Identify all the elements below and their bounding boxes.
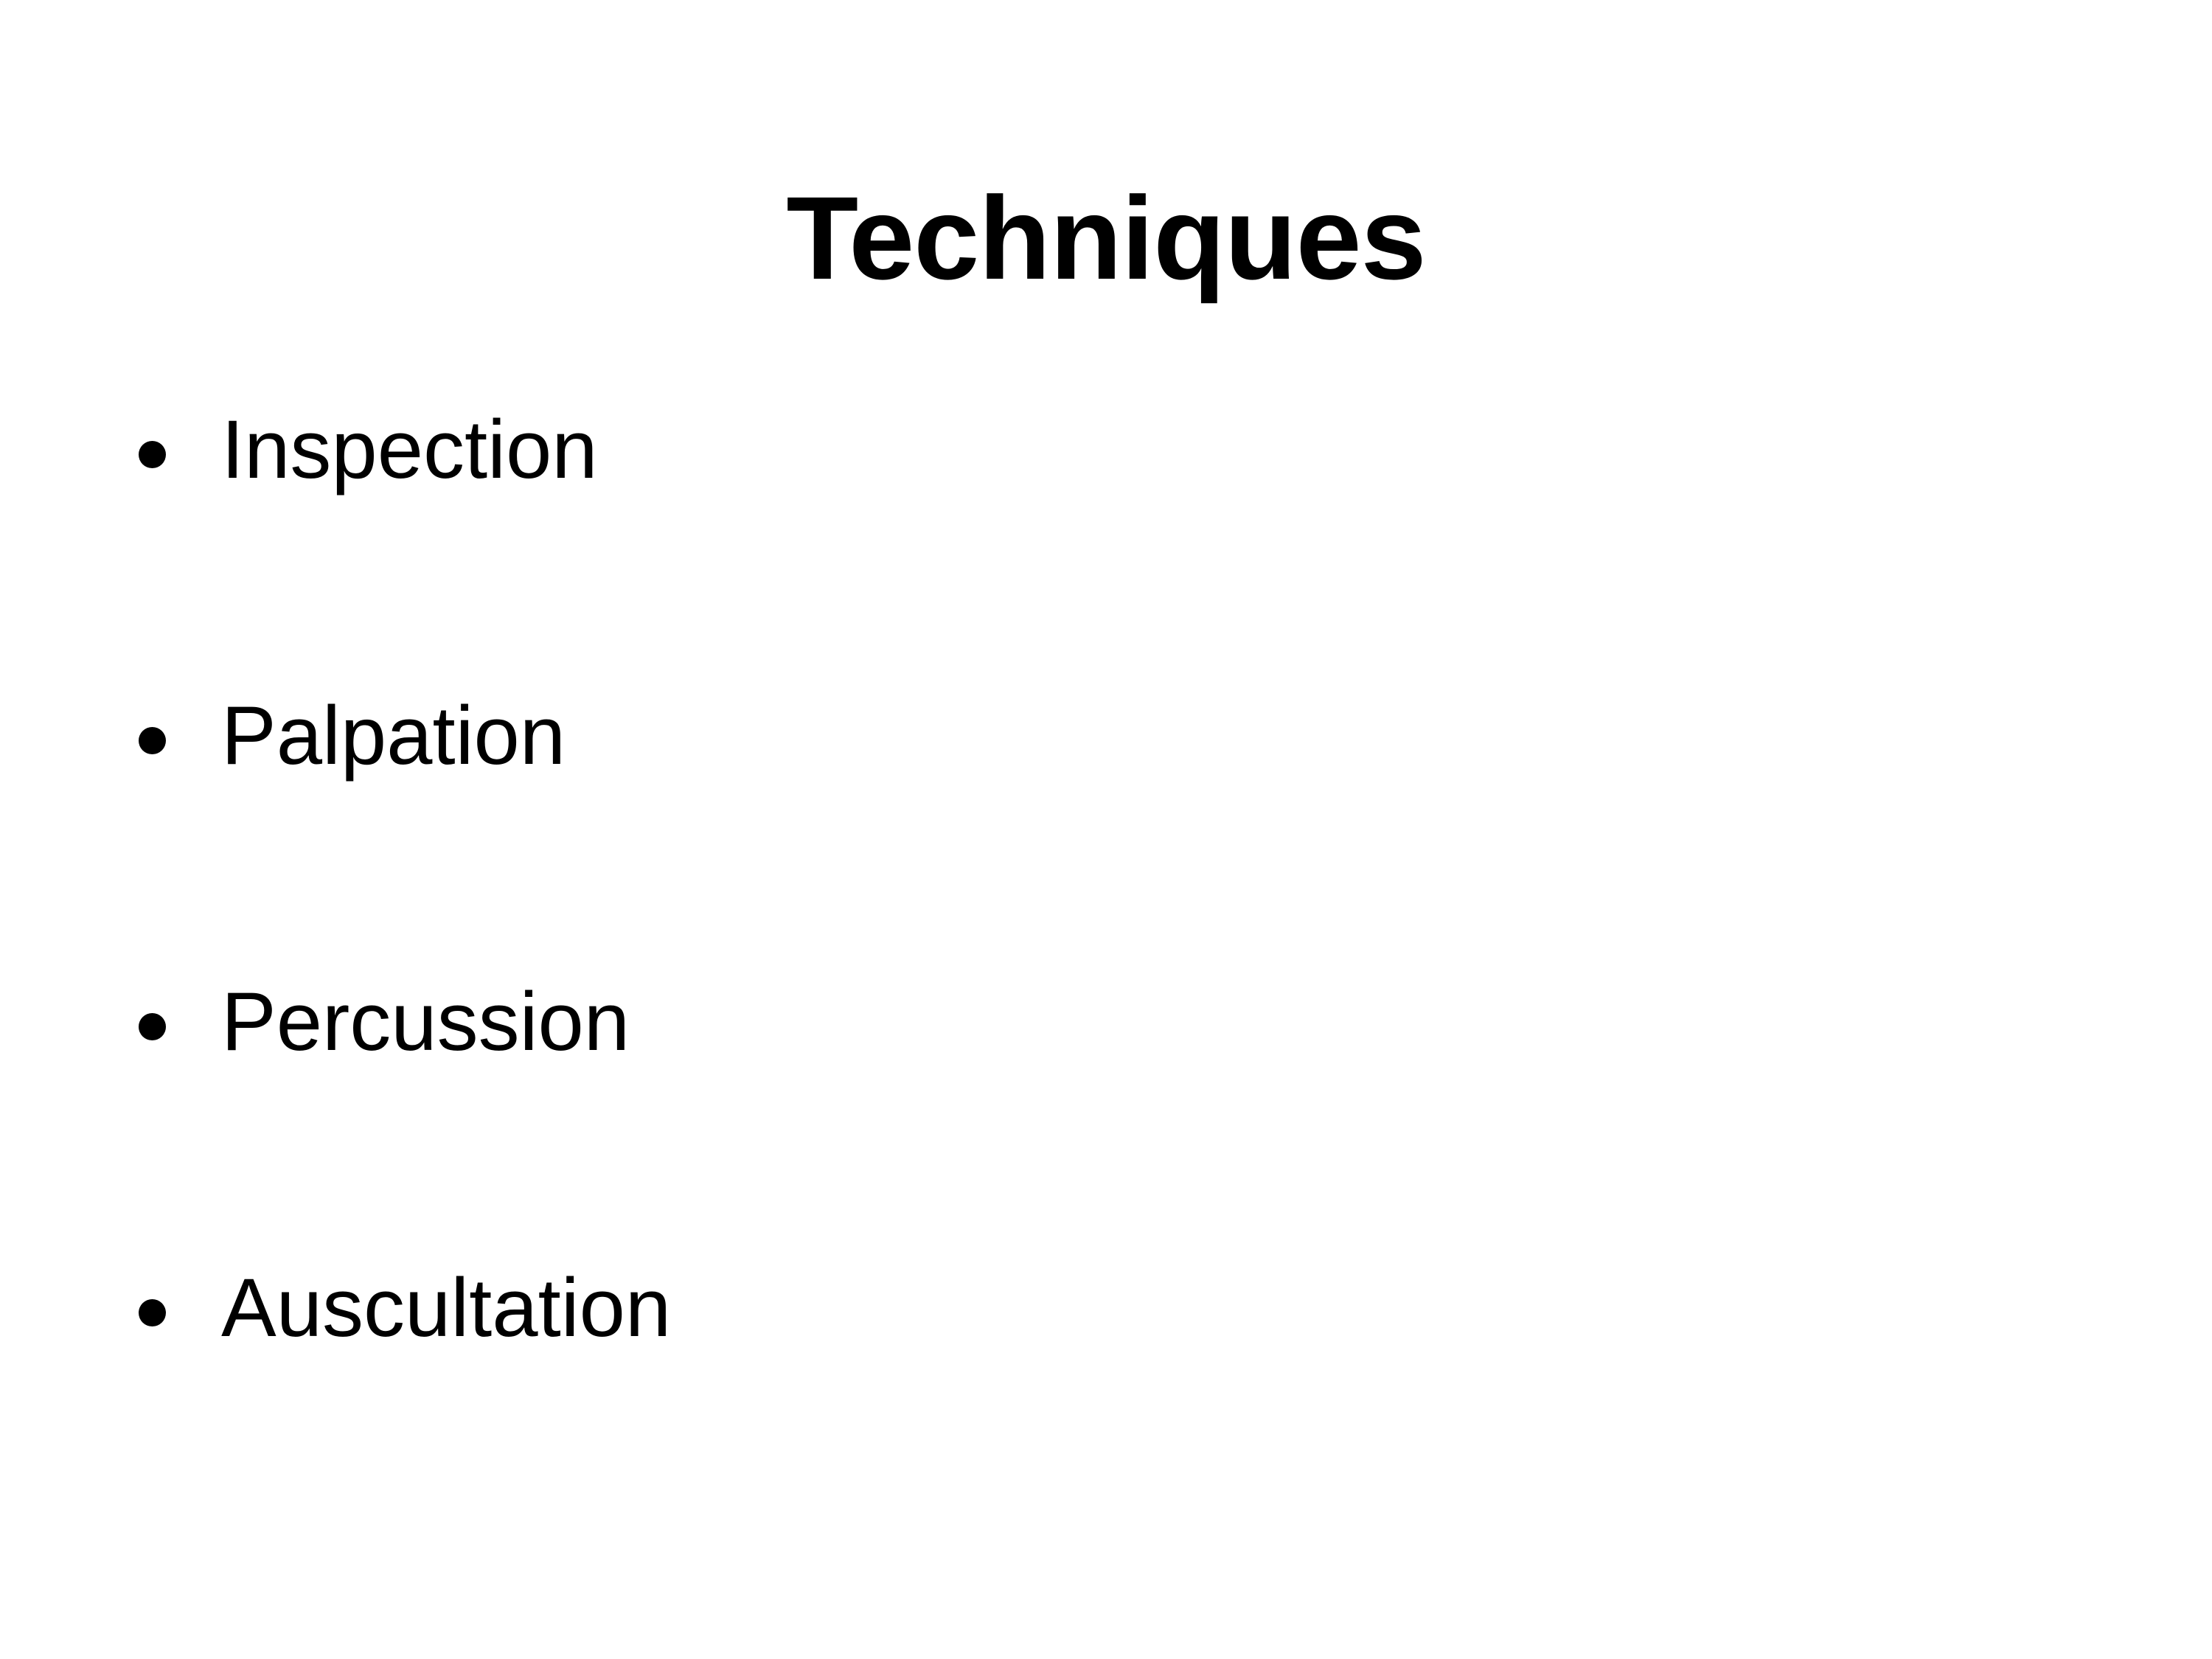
bullet-list: Inspection Palpation Percussion Ausculta… (111, 395, 2101, 1540)
bullet-dot-icon (139, 441, 166, 468)
bullet-dot-icon (139, 727, 166, 754)
list-item-label: Inspection (221, 395, 2101, 504)
list-item-label: Palpation (221, 681, 2101, 790)
bullet-dot-icon (139, 1299, 166, 1326)
list-item[interactable]: Inspection (111, 395, 2101, 681)
bullet-dot-icon (139, 1013, 166, 1040)
page-title: Techniques (0, 166, 2212, 310)
list-item[interactable]: Palpation (111, 681, 2101, 967)
list-item-label: Percussion (221, 967, 2101, 1077)
list-item[interactable]: Auscultation (111, 1253, 2101, 1540)
list-item[interactable]: Percussion (111, 967, 2101, 1253)
presentation-slide: Techniques Inspection Palpation Percussi… (0, 0, 2212, 1659)
list-item-label: Auscultation (221, 1253, 2101, 1363)
